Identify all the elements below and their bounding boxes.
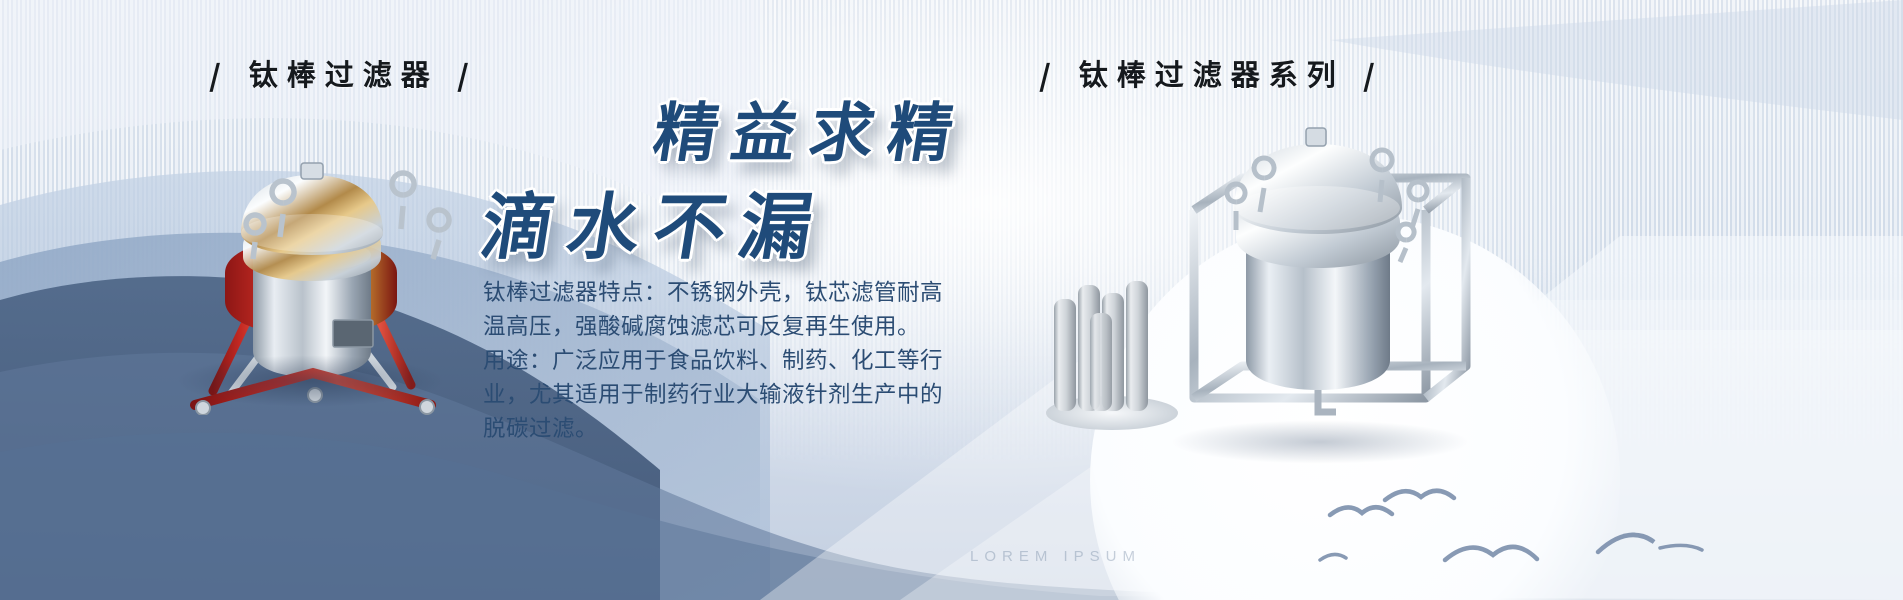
title-bar-glyph-left: |: [206, 58, 234, 92]
title-bar-glyph-right: |: [1036, 58, 1064, 92]
caster-wheel: [196, 401, 210, 415]
eye-bolt: [392, 173, 414, 229]
right-product-shadow: [1170, 420, 1470, 464]
bird-icon: [1330, 507, 1392, 515]
product-banner: | 钛棒过滤器 | | 钛棒过滤器系列 | 精益求精 滴水不漏 钛棒过滤器特点：…: [0, 0, 1903, 600]
description-line-3: 用途：广泛应用于食品饮料、制药、化工等行: [483, 344, 1003, 378]
description-line-1: 钛棒过滤器特点：不锈钢外壳，钛芯滤管耐高: [483, 276, 1003, 310]
caster-wheel: [420, 400, 434, 414]
description-line-2: 温高压，强酸碱腐蚀滤芯可反复再生使用。: [483, 310, 1003, 344]
section-title-left: | 钛棒过滤器 |: [210, 52, 477, 94]
bird-icon: [1445, 547, 1537, 560]
filter-cartridge: [1054, 299, 1076, 411]
section-title-right: | 钛棒过滤器系列 |: [1040, 52, 1383, 94]
filter-cartridge: [1126, 281, 1148, 411]
headline-line-1: 精益求精: [648, 82, 975, 174]
description-line-4: 业，尤其适用于制药行业大输液针剂生产中的: [483, 378, 1003, 412]
section-title-right-label: 钛棒过滤器系列: [1079, 58, 1345, 92]
right-product-image: [1150, 90, 1490, 470]
section-title-left-label: 钛棒过滤器: [249, 58, 439, 92]
product-description: 钛棒过滤器特点：不锈钢外壳，钛芯滤管耐高 温高压，强酸碱腐蚀滤芯可反复再生使用。…: [483, 276, 1003, 446]
watermark-text: LOREM IPSUM: [970, 548, 1141, 565]
eye-bolt: [1398, 224, 1414, 262]
titanium-cartridges-image: [1020, 255, 1200, 440]
description-line-5: 脱碳过滤。: [483, 412, 1003, 446]
left-product-image: [165, 105, 455, 415]
eye-bolt: [429, 210, 449, 259]
bird-icon: [1598, 535, 1654, 552]
filter-cartridge: [1090, 313, 1112, 411]
bird-icon: [1320, 554, 1346, 560]
left-product-shadow: [175, 355, 445, 407]
nameplate: [333, 320, 373, 347]
bird-icon: [1660, 545, 1702, 550]
bird-icon: [1385, 491, 1454, 500]
headline-line-2: 滴水不漏: [475, 168, 836, 273]
